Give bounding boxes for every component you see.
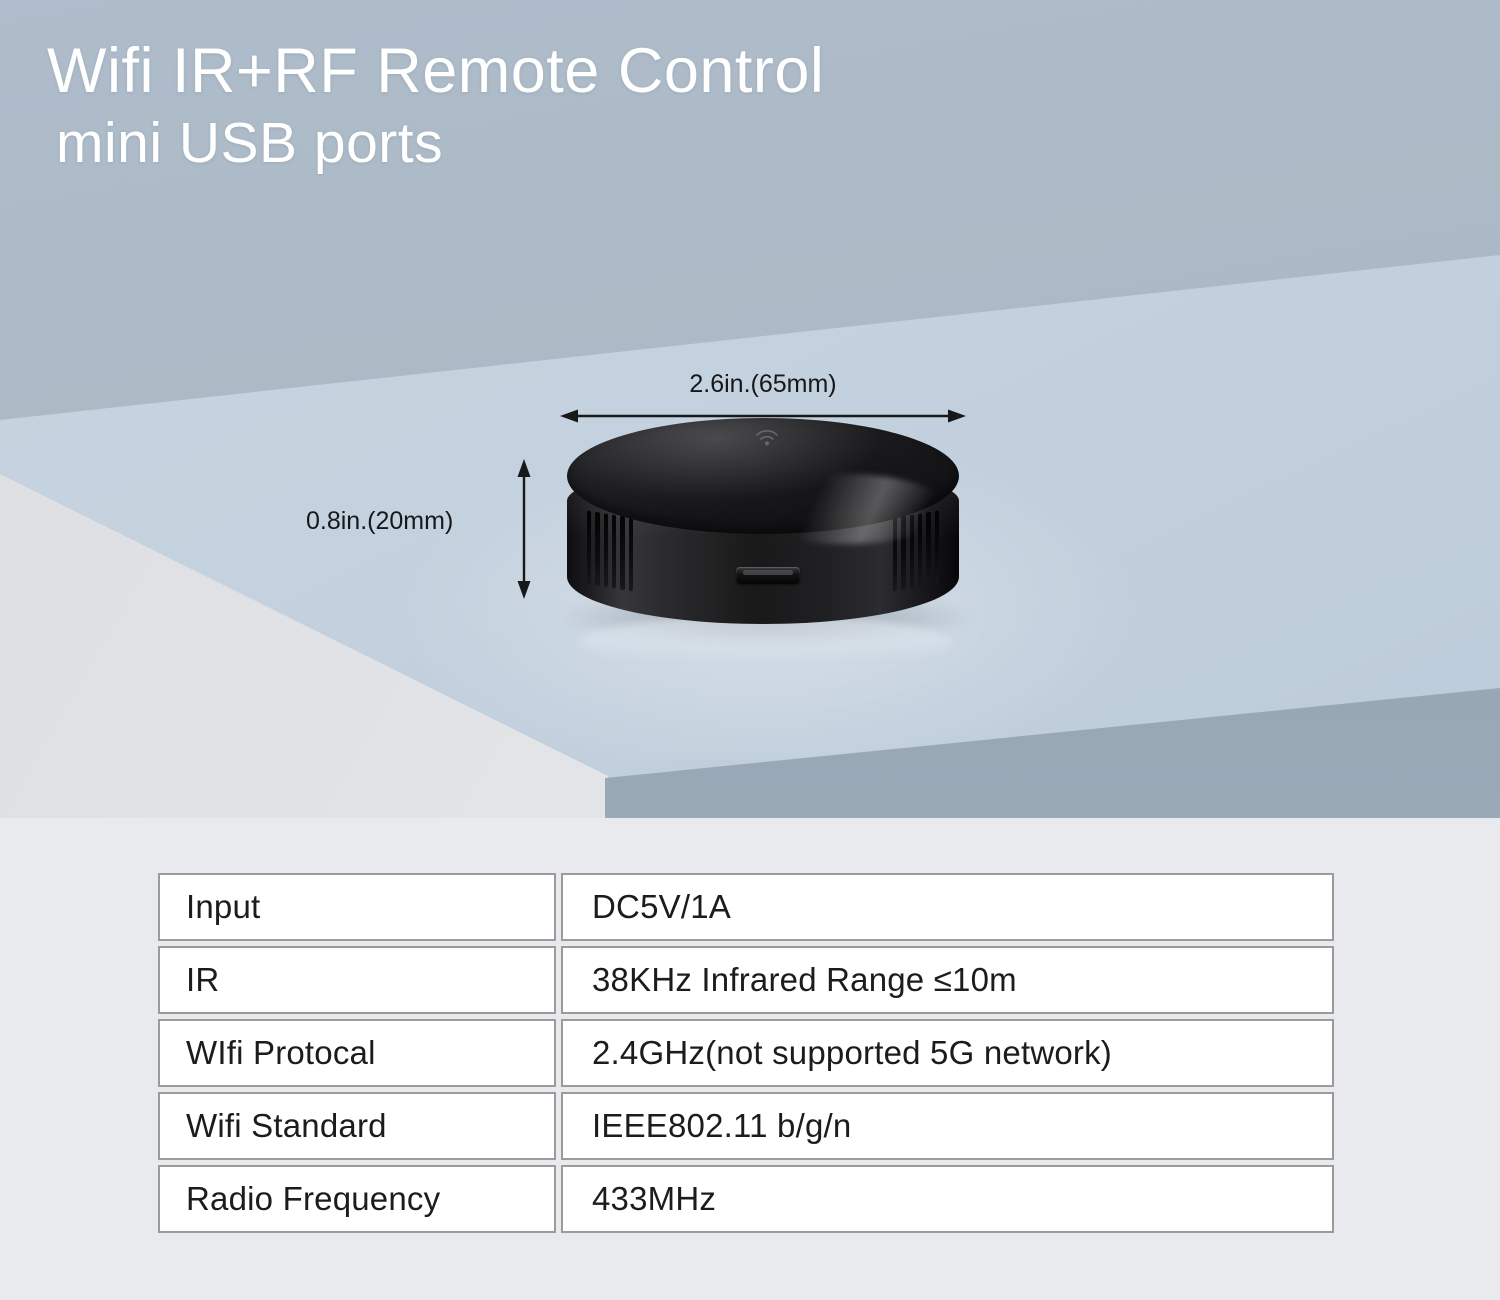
- specification-table: Input DC5V/1A IR 38KHz Infrared Range ≤1…: [158, 873, 1334, 1233]
- hero-heading-line-1: Wifi IR+RF Remote Control: [47, 38, 824, 105]
- spec-value-radio-frequency: 433MHz: [561, 1165, 1334, 1233]
- device-vent-slots-left: [587, 510, 633, 591]
- spec-value-wifi-standard: IEEE802.11 b/g/n: [561, 1092, 1334, 1160]
- table-row: Radio Frequency 433MHz: [158, 1165, 1334, 1233]
- spec-key-wifi-protocal: WIfi Protocal: [158, 1019, 556, 1087]
- device-vent-slots-right: [893, 510, 939, 591]
- table-row: Input DC5V/1A: [158, 873, 1334, 941]
- spec-key-wifi-standard: Wifi Standard: [158, 1092, 556, 1160]
- spec-value-ir: 38KHz Infrared Range ≤10m: [561, 946, 1334, 1014]
- dimension-height-label: 0.8in.(20mm): [306, 507, 453, 536]
- dimension-height-annotation: 0.8in.(20mm): [300, 455, 535, 600]
- table-row: IR 38KHz Infrared Range ≤10m: [158, 946, 1334, 1014]
- table-row: WIfi Protocal 2.4GHz(not supported 5G ne…: [158, 1019, 1334, 1087]
- hero-heading-line-2: mini USB ports: [47, 113, 824, 173]
- device-top-cap: [567, 418, 959, 534]
- micro-usb-port: [736, 567, 800, 584]
- product-hero-image: Wifi IR+RF Remote Control mini USB ports…: [0, 0, 1500, 818]
- spec-key-radio-frequency: Radio Frequency: [158, 1165, 556, 1233]
- table-row: Wifi Standard IEEE802.11 b/g/n: [158, 1092, 1334, 1160]
- dimension-width-label: 2.6in.(65mm): [560, 370, 966, 399]
- wifi-icon: [756, 430, 778, 446]
- product-detail-page: Wifi IR+RF Remote Control mini USB ports…: [0, 0, 1500, 1300]
- spec-value-wifi-protocal: 2.4GHz(not supported 5G network): [561, 1019, 1334, 1087]
- spec-key-ir: IR: [158, 946, 556, 1014]
- dimension-height-arrow-icon: [512, 459, 536, 599]
- spec-key-input: Input: [158, 873, 556, 941]
- hero-heading: Wifi IR+RF Remote Control mini USB ports: [47, 38, 824, 173]
- spec-value-input: DC5V/1A: [561, 873, 1334, 941]
- product-device: [563, 418, 963, 630]
